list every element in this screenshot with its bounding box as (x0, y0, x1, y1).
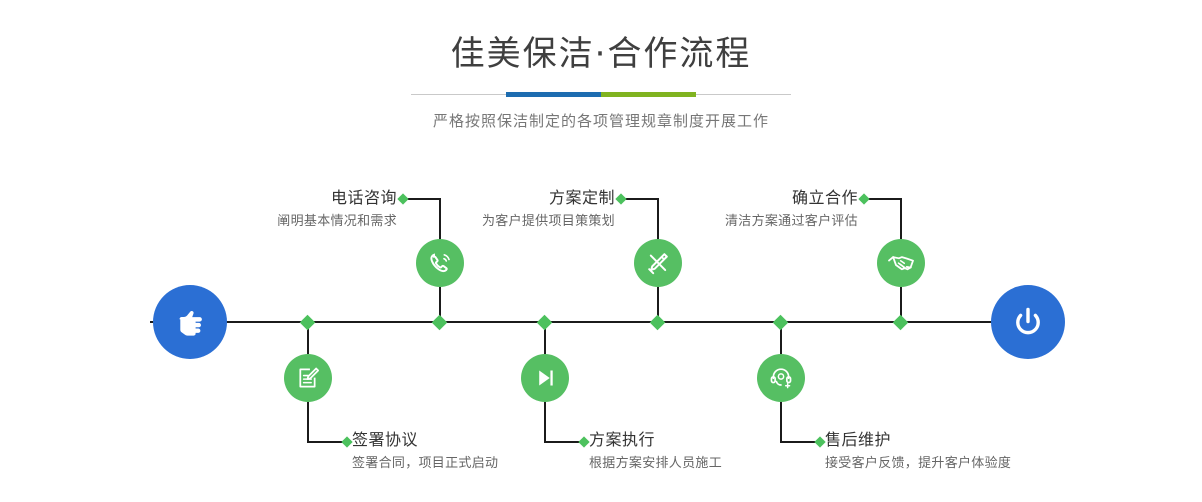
step-node-establish-cooperation (877, 239, 925, 287)
step-node-sign-agreement (284, 354, 332, 402)
step-title: 确立合作 (600, 187, 858, 209)
connector-horizontal-aftersales (780, 441, 818, 443)
axis-diamond-cooperation (893, 315, 909, 331)
step-desc: 根据方案安排人员施工 (589, 454, 849, 474)
connector-vertical-execute-lower (544, 402, 546, 442)
step-title: 方案执行 (589, 429, 849, 451)
axis-diamond-aftersales (773, 315, 789, 331)
power-icon (1008, 302, 1048, 342)
step-caption-sign-agreement: 签署协议 签署合同，项目正式启动 (352, 429, 612, 474)
step-node-plan-custom (634, 239, 682, 287)
connector-horizontal-sign (307, 441, 345, 443)
step-title: 售后维护 (825, 429, 1125, 451)
step-desc: 签署合同，项目正式启动 (352, 454, 612, 474)
connector-vertical-aftersales-lower (780, 402, 782, 442)
timeline-axis (150, 321, 1055, 323)
branch-diamond-cooperation (858, 193, 869, 204)
phone-call-icon (425, 248, 455, 278)
axis-diamond-plan (650, 315, 666, 331)
timeline-end-endpoint (991, 285, 1065, 359)
step-caption-plan-custom: 方案定制 为客户提供项目策策划 (357, 187, 615, 232)
axis-diamond-phone (432, 315, 448, 331)
axis-diamond-sign (300, 315, 316, 331)
step-caption-after-sales: 售后维护 接受客户反馈，提升客户体验度 (825, 429, 1125, 474)
customer-service-icon (767, 364, 795, 392)
handshake-icon (886, 248, 916, 278)
connector-vertical-sign-lower (307, 402, 309, 442)
step-title: 签署协议 (352, 429, 612, 451)
timeline-start-endpoint (153, 285, 227, 359)
play-next-icon (531, 364, 559, 392)
axis-diamond-execute (537, 315, 553, 331)
pointing-hand-icon (170, 302, 210, 342)
branch-diamond-sign (341, 436, 352, 447)
process-timeline: 电话咨询 阐明基本情况和需求 方案定制 为客户提供项目策策划 (0, 0, 1202, 502)
step-caption-establish-cooperation: 确立合作 清洁方案通过客户评估 (600, 187, 858, 232)
step-desc: 为客户提供项目策策划 (357, 212, 615, 232)
cooperation-process-infographic: 佳美保洁·合作流程 严格按照保洁制定的各项管理规章制度开展工作 (0, 0, 1202, 502)
step-desc: 清洁方案通过客户评估 (600, 212, 858, 232)
step-desc: 接受客户反馈，提升客户体验度 (825, 454, 1125, 474)
step-node-phone-consult (416, 239, 464, 287)
document-sign-icon (294, 364, 322, 392)
connector-vertical-cooperation-upper (900, 198, 902, 239)
step-node-after-sales (757, 354, 805, 402)
pencil-edit-icon (643, 248, 673, 278)
step-node-plan-execute (521, 354, 569, 402)
connector-horizontal-execute (544, 441, 582, 443)
connector-horizontal-cooperation (865, 198, 902, 200)
step-title: 方案定制 (357, 187, 615, 209)
step-caption-plan-execute: 方案执行 根据方案安排人员施工 (589, 429, 849, 474)
